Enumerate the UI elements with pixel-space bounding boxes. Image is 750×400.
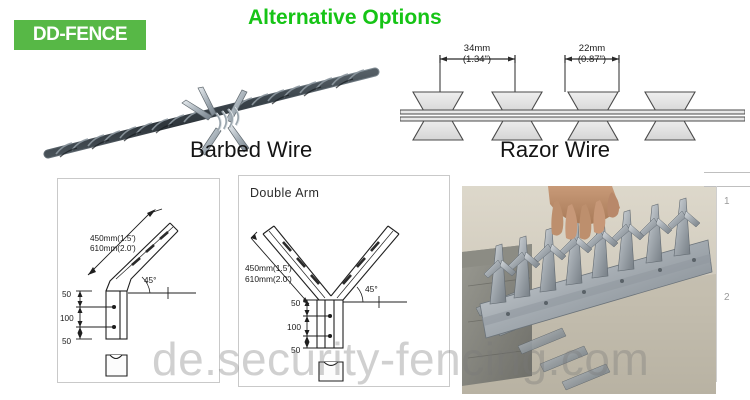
product-image-canvas: DD-FENCE Alternative Options — [0, 0, 750, 400]
brand-logo-text: DD-FENCE — [33, 24, 127, 46]
razor-barbs — [413, 92, 695, 140]
double-arm-length-1: 450mm(1.5') — [245, 263, 292, 273]
single-arm-dim-top: 50 — [62, 290, 72, 299]
double-arm-dim-top: 50 — [291, 298, 301, 308]
double-arm-title: Double Arm — [250, 186, 319, 200]
double-arm-drawing-panel: 450mm(1.5') 610mm(2.0') 45° 50 100 50 — [238, 175, 450, 387]
page-title: Alternative Options — [248, 6, 442, 30]
single-arm-drawing-panel: 450mm(1.5') 610mm(2.0') 45° 50 100 50 — [57, 178, 220, 383]
table-rule-top — [704, 172, 750, 173]
dimension-34mm-metric: 34mm — [464, 43, 490, 54]
single-arm-dim-mid: 100 — [60, 314, 74, 323]
single-arm-length-2: 610mm(2.0') — [90, 244, 136, 253]
wall-spike-strip-photo — [462, 186, 716, 394]
single-arm-length-1: 450mm(1.5') — [90, 234, 136, 243]
double-arm-length-2: 610mm(2.0') — [245, 274, 292, 284]
table-row-1: 1 — [724, 196, 730, 207]
dimension-22mm-metric: 22mm — [579, 43, 605, 54]
double-arm-angle: 45° — [365, 284, 378, 294]
double-arm-dim-bottom: 50 — [291, 345, 301, 355]
dimension-22mm-imperial: (0.87") — [578, 54, 606, 65]
brand-logo: DD-FENCE — [14, 20, 146, 50]
single-arm-angle: 45° — [144, 276, 156, 285]
table-column-divider — [716, 186, 717, 382]
razor-wire-label: Razor Wire — [500, 137, 610, 163]
razor-core-wire — [400, 110, 745, 121]
single-arm-dim-bottom: 50 — [62, 337, 72, 346]
barbed-wire-label: Barbed Wire — [190, 137, 312, 163]
dimension-34mm-imperial: (1.34") — [463, 54, 491, 65]
double-arm-dim-mid: 100 — [287, 322, 301, 332]
table-row-2: 2 — [724, 292, 730, 303]
